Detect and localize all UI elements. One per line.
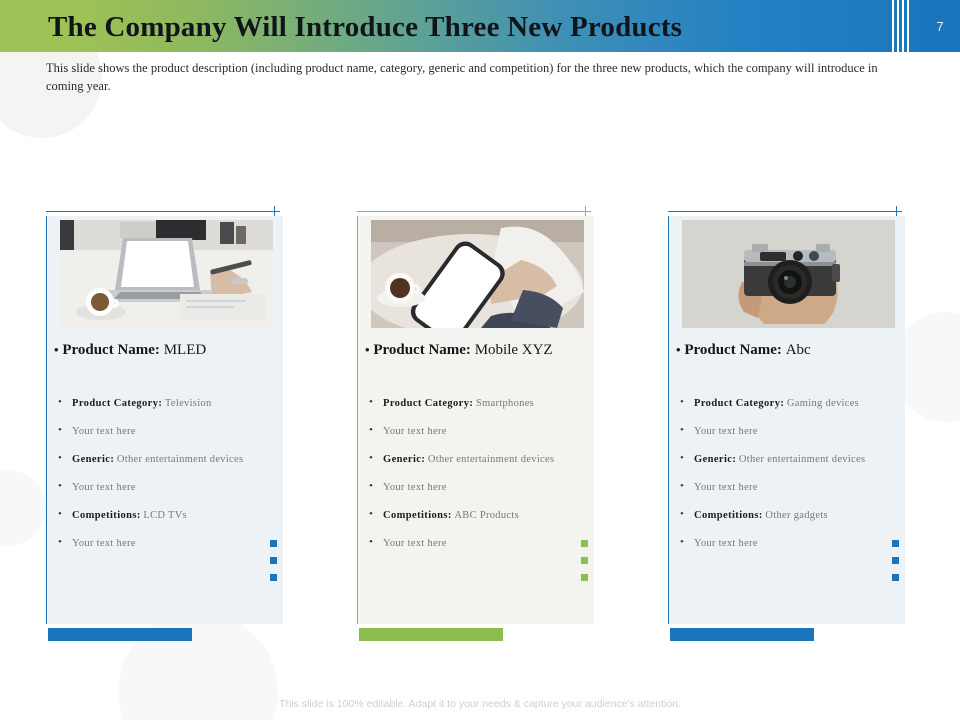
header-stripe-4 [907,0,909,52]
card-2-bullet-list: Product Category: Smartphones Your text … [367,396,595,564]
card-3-generic-row: Generic: Other entertainment devices [678,452,906,467]
card-1-note-1: Your text here [56,424,284,439]
card-2-competitions-label: Competitions: [383,510,452,521]
header-stripe-1 [892,0,894,52]
card-3-competitions-label: Competitions: [694,510,763,521]
card-1-competitions-row: Competitions: LCD TVs [56,508,284,523]
bullet-glyph-icon: • [365,342,370,357]
hand-holding-camera-photo [682,220,895,328]
product-card-row: • Product Name: MLED Product Category: T… [0,206,960,646]
slide-subtitle: This slide shows the product description… [46,59,894,95]
card-3-bullet-list: Product Category: Gaming devices Your te… [678,396,906,564]
card-1-note-3: Your text here [56,536,284,551]
card-3-category-label: Product Category: [694,398,784,409]
card-3-note-2: Your text here [678,480,906,495]
card-1-handle-2[interactable] [270,557,277,564]
card-2-note-3: Your text here [367,536,595,551]
card-2-note-2-text: Your text here [383,482,447,493]
card-3-product-title: • Product Name: Abc [676,342,902,359]
card-2-handle-1[interactable] [581,540,588,547]
product-card-2[interactable]: • Product Name: Mobile XYZ Product Categ… [357,206,604,646]
hand-holding-smartphone-photo [371,220,584,328]
card-1-handle-1[interactable] [270,540,277,547]
card-2-bottom-bar [359,628,503,641]
card-3-note-1: Your text here [678,424,906,439]
card-2-competitions-value: ABC Products [454,510,519,521]
card-3-competitions-value: Other gadgets [765,510,828,521]
card-3-generic-value: Other entertainment devices [739,454,865,465]
card-2-note-2: Your text here [367,480,595,495]
bullet-glyph-icon: • [676,342,681,357]
card-1-product-name-value: MLED [164,342,207,358]
card-2-competitions-row: Competitions: ABC Products [367,508,595,523]
card-1-product-name-label: Product Name: [62,342,160,358]
card-1-competitions-label: Competitions: [72,510,141,521]
card-3-handle-3[interactable] [892,574,899,581]
card-2-generic-row: Generic: Other entertainment devices [367,452,595,467]
card-1-bottom-bar [48,628,192,641]
card-3-bottom-bar [670,628,814,641]
card-3-category-value: Gaming devices [787,398,859,409]
header-stripe-3 [902,0,904,52]
card-3-competitions-row: Competitions: Other gadgets [678,508,906,523]
header-stripe-2 [897,0,899,52]
card-2-category-label: Product Category: [383,398,473,409]
card-1-generic-row: Generic: Other entertainment devices [56,452,284,467]
card-3-note-1-text: Your text here [694,426,758,437]
card-1-note-1-text: Your text here [72,426,136,437]
card-2-top-rule [357,211,591,212]
card-2-generic-label: Generic: [383,454,425,465]
slide-title: The Company Will Introduce Three New Pro… [48,8,682,46]
card-1-category-value: Television [165,398,212,409]
card-2-product-title: • Product Name: Mobile XYZ [365,342,591,359]
card-1-note-2: Your text here [56,480,284,495]
card-1-note-3-text: Your text here [72,538,136,549]
card-3-note-3-text: Your text here [694,538,758,549]
card-2-note-1: Your text here [367,424,595,439]
card-1-product-title: • Product Name: MLED [54,342,280,359]
card-2-product-name-label: Product Name: [373,342,471,358]
card-3-product-name-value: Abc [786,342,811,358]
card-2-selection-handles[interactable] [581,540,590,584]
laptop-on-desk-photo [60,220,273,328]
product-card-3[interactable]: • Product Name: Abc Product Category: Ga… [668,206,915,646]
card-2-category-value: Smartphones [476,398,534,409]
header-stripe-decoration [892,0,916,52]
card-3-handle-2[interactable] [892,557,899,564]
card-2-note-1-text: Your text here [383,426,447,437]
footer-note: This slide is 100% editable. Adapt it to… [0,698,960,710]
card-3-note-3: Your text here [678,536,906,551]
card-3-product-name-label: Product Name: [684,342,782,358]
card-3-generic-label: Generic: [694,454,736,465]
card-3-top-rule [668,211,902,212]
card-2-product-name-value: Mobile XYZ [475,342,553,358]
card-2-generic-value: Other entertainment devices [428,454,554,465]
card-2-category-row: Product Category: Smartphones [367,396,595,411]
card-2-note-3-text: Your text here [383,538,447,549]
card-1-generic-value: Other entertainment devices [117,454,243,465]
page-number-badge: 7 [920,0,960,52]
bullet-glyph-icon: • [54,342,59,357]
card-1-competitions-value: LCD TVs [143,510,187,521]
card-1-top-rule [46,211,280,212]
product-card-1[interactable]: • Product Name: MLED Product Category: T… [46,206,293,646]
card-3-handle-1[interactable] [892,540,899,547]
card-1-category-label: Product Category: [72,398,162,409]
card-3-selection-handles[interactable] [892,540,901,584]
card-1-category-row: Product Category: Television [56,396,284,411]
card-2-handle-2[interactable] [581,557,588,564]
card-1-handle-3[interactable] [270,574,277,581]
page-number-text: 7 [936,19,943,34]
card-1-note-2-text: Your text here [72,482,136,493]
card-3-note-2-text: Your text here [694,482,758,493]
card-1-bullet-list: Product Category: Television Your text h… [56,396,284,564]
card-3-category-row: Product Category: Gaming devices [678,396,906,411]
card-1-selection-handles[interactable] [270,540,279,584]
card-2-handle-3[interactable] [581,574,588,581]
card-1-generic-label: Generic: [72,454,114,465]
